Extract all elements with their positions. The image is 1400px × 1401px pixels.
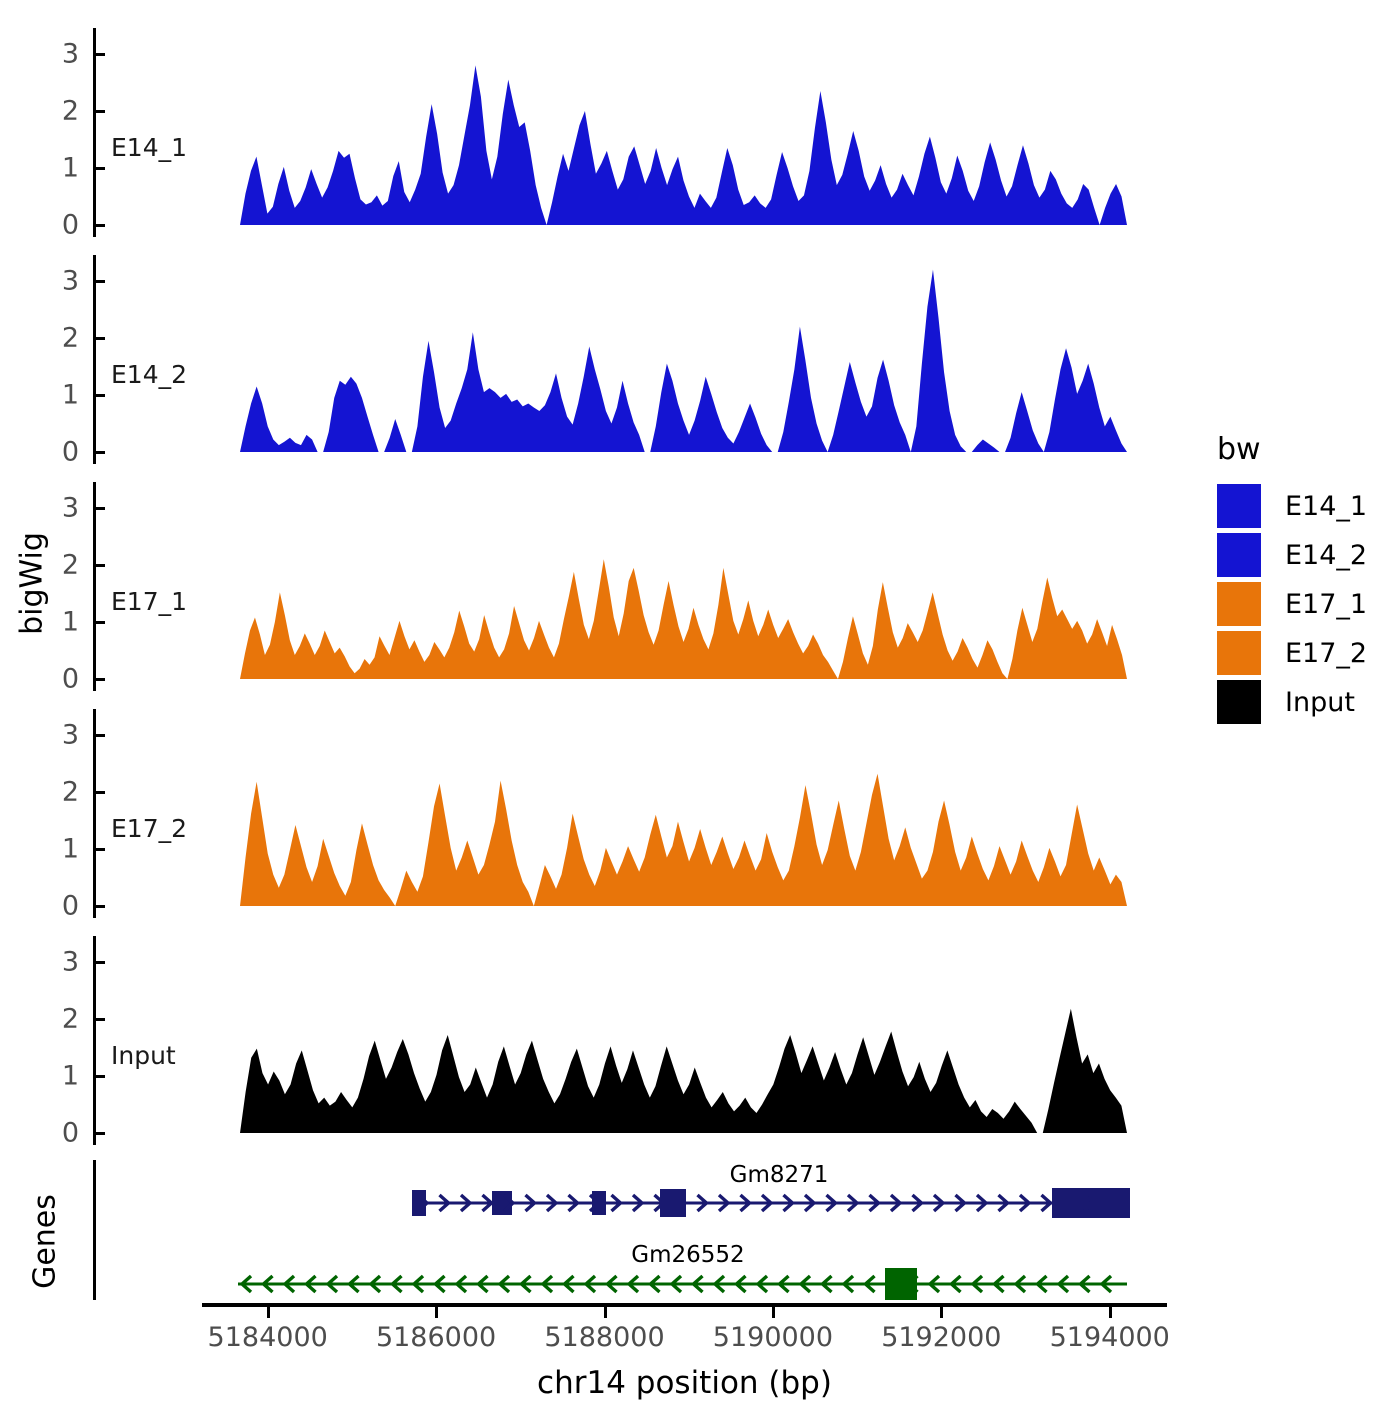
y-tick-label: 1	[62, 1061, 79, 1092]
genes-track: Gm8271 Gm26552	[0, 1160, 1140, 1305]
gene-label-gm26552: Gm26552	[631, 1242, 744, 1268]
y-tick-label: 0	[62, 437, 79, 468]
gene-gm8271	[412, 1188, 1130, 1218]
y-tick-label: 3	[62, 39, 79, 70]
x-tick	[267, 1307, 270, 1318]
y-tick-label: 1	[62, 834, 79, 865]
track-panel-e14_1: 0123E14_1	[0, 28, 1140, 247]
y-axis-spine	[93, 936, 96, 1145]
x-tick-label: 5188000	[544, 1322, 664, 1353]
legend-swatch-e14_2	[1217, 533, 1261, 577]
track-panel-e17_2: 0123E17_2	[0, 709, 1140, 928]
x-tick	[604, 1307, 607, 1318]
y-tick	[96, 564, 105, 567]
legend-swatch-e17_2	[1217, 631, 1261, 675]
y-tick	[96, 451, 105, 454]
track-panel-e14_2: 0123E14_2	[0, 255, 1140, 474]
y-tick	[96, 53, 105, 56]
y-tick-label: 2	[62, 323, 79, 354]
legend-item-e14_1[interactable]: E14_1	[1217, 484, 1367, 528]
y-tick	[96, 167, 105, 170]
legend-label: E17_1	[1285, 589, 1367, 620]
x-axis-title: chr14 position (bp)	[537, 1365, 832, 1401]
wiggle-e17_2	[240, 709, 1127, 918]
track-label-e17_2: E17_2	[111, 814, 187, 843]
x-tick-label: 5190000	[713, 1322, 833, 1353]
legend-label: E14_2	[1285, 540, 1367, 571]
y-tick	[96, 1075, 105, 1078]
wiggle-e14_2	[240, 255, 1127, 464]
x-tick-label: 5186000	[376, 1322, 496, 1353]
x-axis-line	[202, 1303, 1167, 1307]
legend-item-e17_2[interactable]: E17_2	[1217, 631, 1367, 675]
legend-swatch-input	[1217, 680, 1261, 724]
legend-swatch-e14_1	[1217, 484, 1261, 528]
gene-label-gm8271: Gm8271	[730, 1162, 829, 1188]
x-tick	[772, 1307, 775, 1318]
y-tick-label: 0	[62, 210, 79, 241]
gene-gm26552	[238, 1268, 1127, 1300]
y-tick-label: 2	[62, 550, 79, 581]
track-label-e14_1: E14_1	[111, 133, 187, 162]
x-tick	[1109, 1307, 1112, 1318]
track-label-e14_2: E14_2	[111, 360, 187, 389]
y-tick-label: 2	[62, 1004, 79, 1035]
x-tick-label: 5192000	[881, 1322, 1001, 1353]
y-tick	[96, 848, 105, 851]
y-tick	[96, 1018, 105, 1021]
y-tick	[96, 621, 105, 624]
y-tick	[96, 507, 105, 510]
y-axis-spine	[93, 482, 96, 691]
y-axis-spine	[93, 28, 96, 237]
y-tick-label: 2	[62, 777, 79, 808]
x-tick-label: 5194000	[1050, 1322, 1170, 1353]
legend-label: E17_2	[1285, 638, 1367, 669]
x-tick-label: 5184000	[208, 1322, 328, 1353]
legend-label: Input	[1285, 687, 1355, 718]
y-tick-label: 1	[62, 380, 79, 411]
y-tick	[96, 678, 105, 681]
y-tick-label: 2	[62, 96, 79, 127]
y-tick	[96, 110, 105, 113]
wiggle-e14_1	[240, 28, 1127, 237]
legend-item-input[interactable]: Input	[1217, 680, 1355, 724]
y-axis-spine	[93, 255, 96, 464]
track-label-input: Input	[111, 1041, 176, 1070]
y-tick-label: 1	[62, 607, 79, 638]
y-tick	[96, 905, 105, 908]
y-tick-label: 3	[62, 266, 79, 297]
track-label-e17_1: E17_1	[111, 587, 187, 616]
legend-swatch-e17_1	[1217, 582, 1261, 626]
y-tick-label: 0	[62, 891, 79, 922]
legend-item-e17_1[interactable]: E17_1	[1217, 582, 1367, 626]
y-tick	[96, 394, 105, 397]
x-tick	[940, 1307, 943, 1318]
gene-models	[0, 1160, 1140, 1305]
y-axis-spine	[93, 709, 96, 918]
legend-title: bw	[1217, 432, 1261, 467]
y-tick-label: 1	[62, 153, 79, 184]
y-tick	[96, 1132, 105, 1135]
track-panel-e17_1: 0123E17_1	[0, 482, 1140, 701]
x-tick	[435, 1307, 438, 1318]
y-tick-label: 0	[62, 664, 79, 695]
y-tick-label: 0	[62, 1118, 79, 1149]
y-tick	[96, 961, 105, 964]
legend-item-e14_2[interactable]: E14_2	[1217, 533, 1367, 577]
y-tick	[96, 337, 105, 340]
track-panel-input: 0123Input	[0, 936, 1140, 1155]
wiggle-e17_1	[240, 482, 1127, 691]
y-tick-label: 3	[62, 720, 79, 751]
y-tick	[96, 224, 105, 227]
y-tick-label: 3	[62, 493, 79, 524]
legend-label: E14_1	[1285, 491, 1367, 522]
wiggle-input	[240, 936, 1127, 1145]
y-tick	[96, 791, 105, 794]
y-tick	[96, 734, 105, 737]
y-tick	[96, 280, 105, 283]
y-tick-label: 3	[62, 947, 79, 978]
